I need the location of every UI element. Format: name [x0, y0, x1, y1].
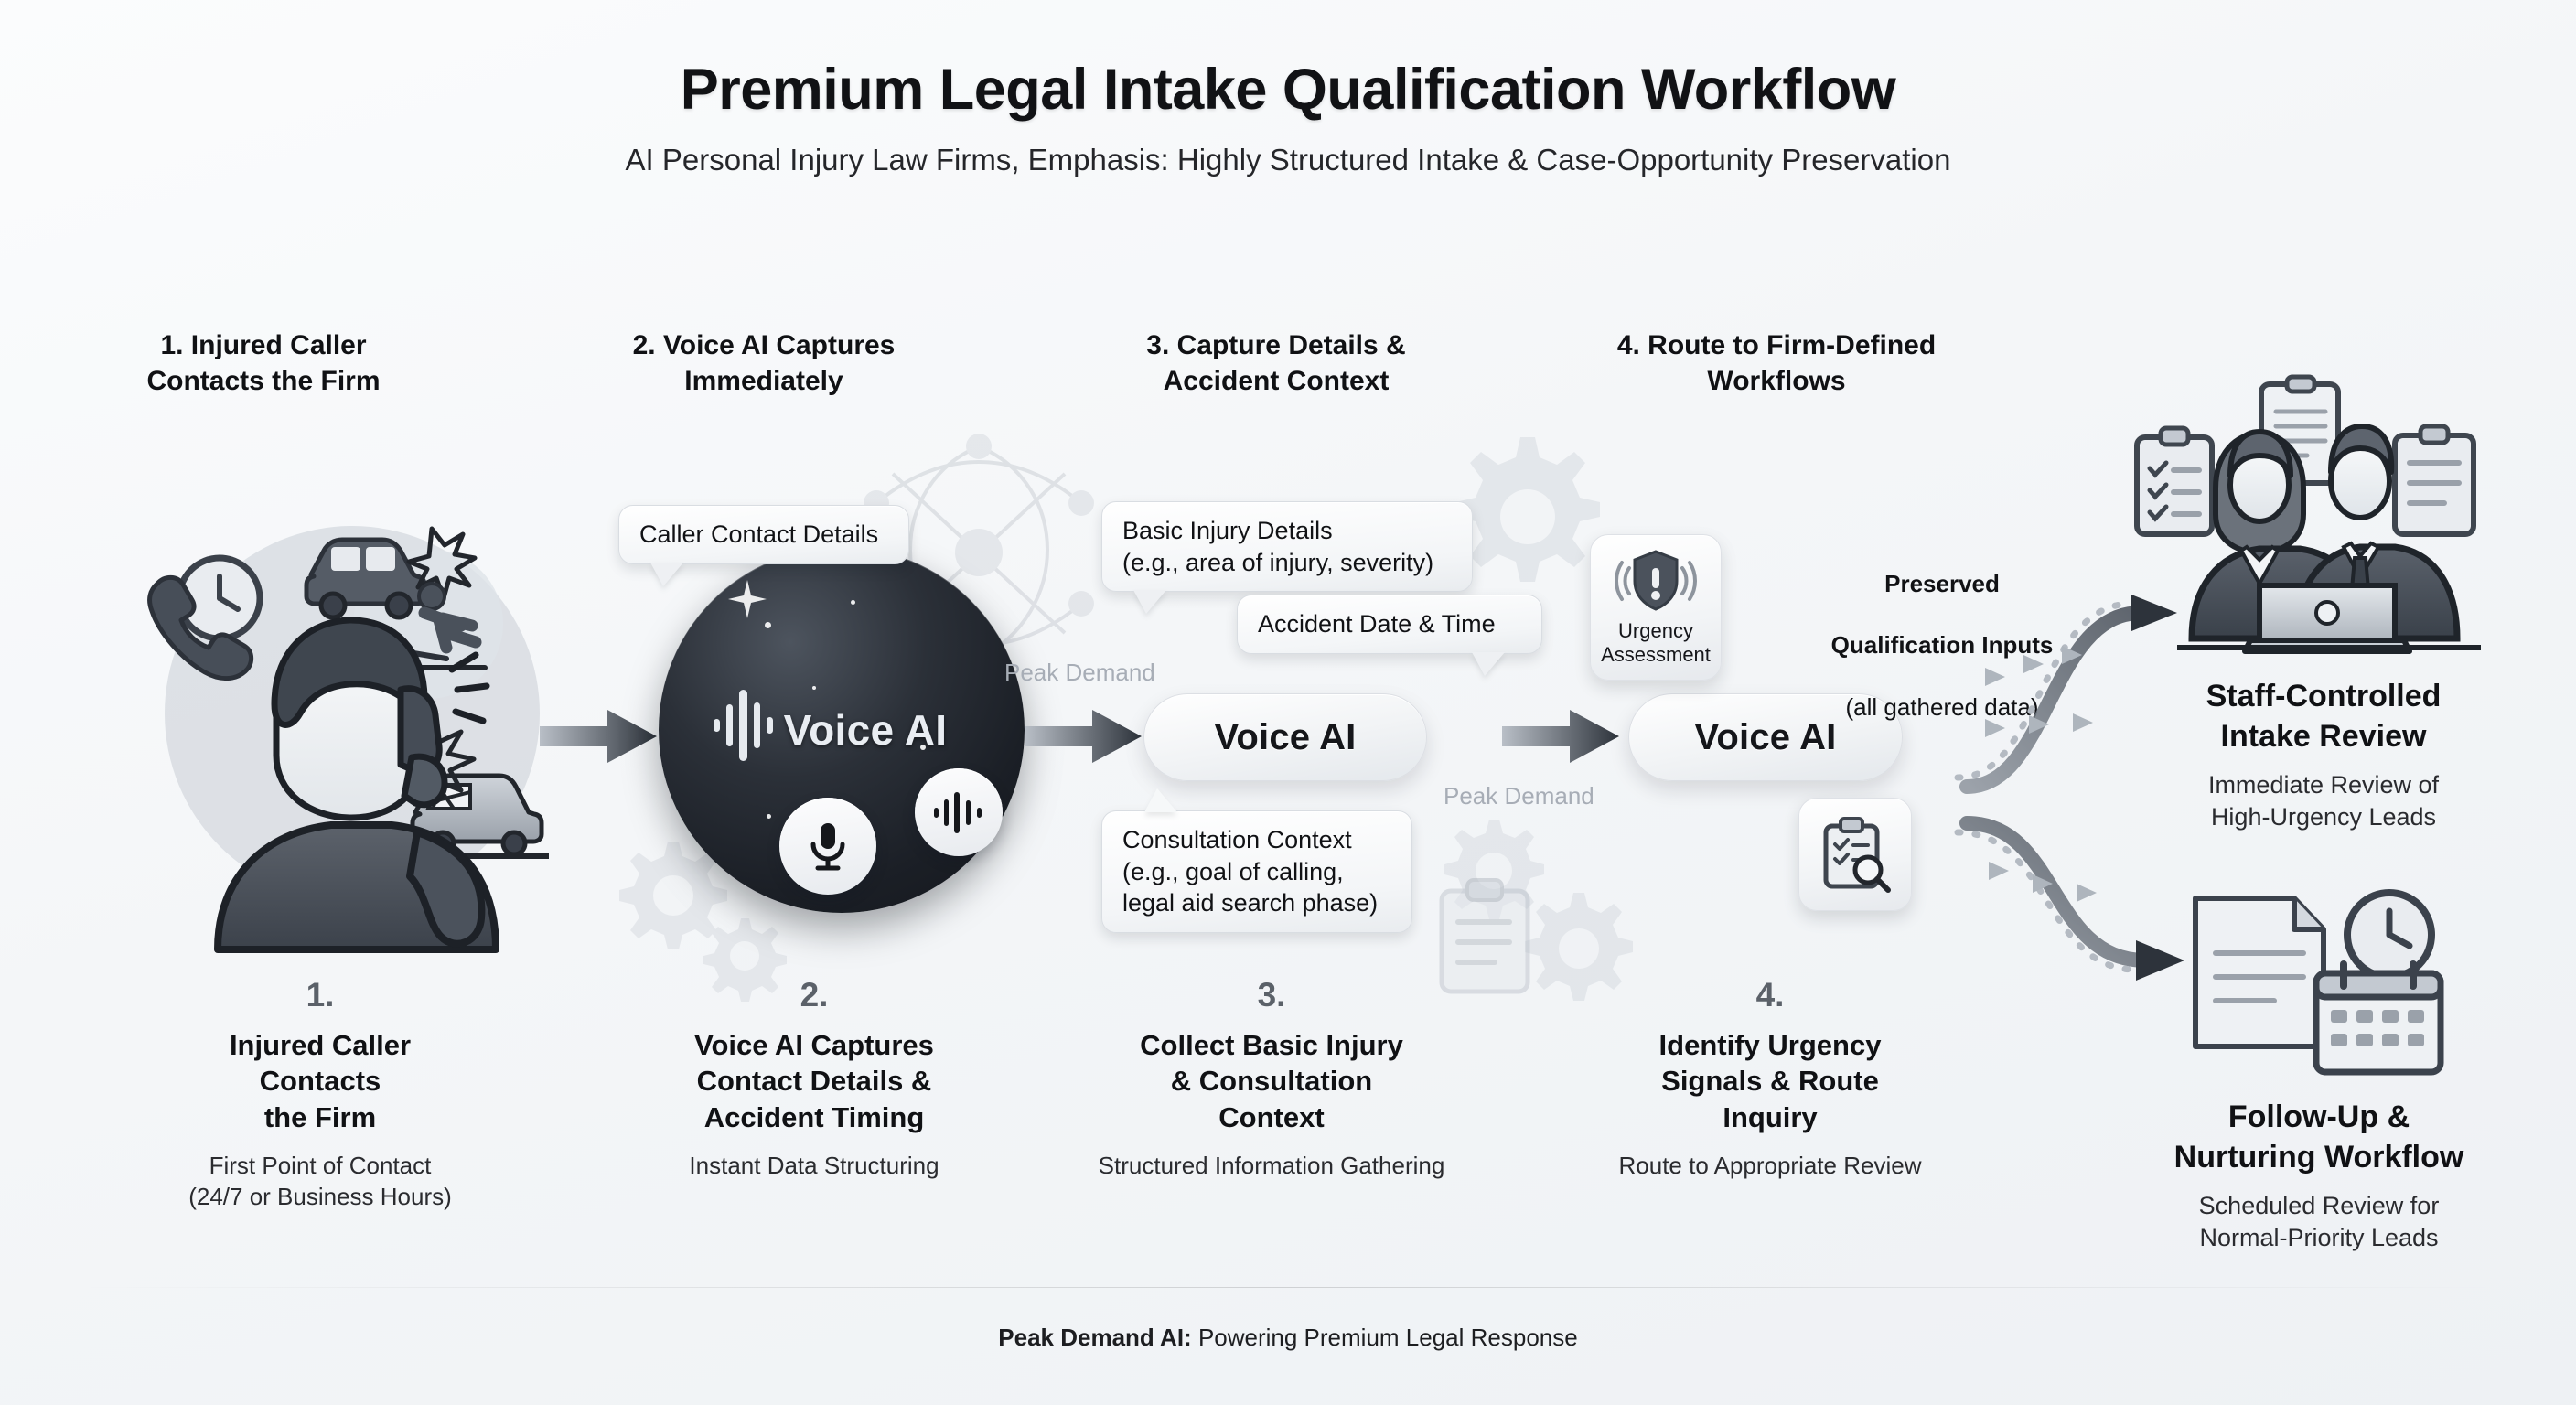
damaged-car-icon [382, 717, 549, 856]
preserved-line-3: (all gathered data) [1845, 693, 2038, 721]
urgency-assessment-label: Urgency Assessment [1601, 619, 1711, 668]
caption-3-sub: Structured Information Gathering [1043, 1151, 1500, 1182]
caption-1-lead: Injured Caller Contacts the Firm [91, 1027, 549, 1136]
footer-divider [73, 1287, 2503, 1288]
sparkle-icon [726, 578, 768, 620]
footer-tagline: Powering Premium Legal Response [1192, 1324, 1578, 1351]
caption-step-3: 3. Collect Basic Injury & Consultation C… [1043, 977, 1500, 1182]
step-title-3: 3. Capture Details & Accident Context [1098, 327, 1454, 399]
waveform-chip [915, 768, 1003, 856]
preserved-line-2: Qualification Inputs [1831, 631, 2054, 659]
followup-illustration [2186, 885, 2479, 1087]
page-title: Premium Legal Intake Qualification Workf… [0, 57, 2576, 123]
bubble-consultation-context: Consultation Context (e.g., goal of call… [1101, 810, 1412, 933]
caption-4-lead: Identify Urgency Signals & Route Inquiry [1546, 1027, 1994, 1136]
staff-person-woman [2192, 432, 2366, 638]
review-clipboard-tile [1798, 798, 1912, 911]
clipboard-document-right [2395, 426, 2474, 534]
caption-2-sub: Instant Data Structuring [604, 1151, 1025, 1182]
caption-2-number: 2. [604, 977, 1025, 1014]
outcome-2-title: Follow-Up & Nurturing Workflow [2104, 1098, 2534, 1177]
step-title-4: 4. Route to Firm-Defined Workflows [1566, 327, 1987, 399]
urgency-shield-icon [1616, 548, 1695, 614]
step-title-2: 2. Voice AI Captures Immediately [585, 327, 942, 399]
preserved-line-1: Preserved [1884, 570, 2000, 597]
staff-team-illustration [2120, 377, 2514, 660]
watermark-peak-demand-1: Peak Demand [1004, 659, 1155, 687]
step-title-1: 1. Injured Caller Contacts the Firm [99, 327, 428, 399]
waveform-icon-sphere [712, 684, 785, 767]
caption-3-number: 3. [1043, 977, 1500, 1014]
clipboard-checklist-left [2137, 428, 2212, 534]
microphone-chip [779, 798, 876, 895]
footer-brand: Peak Demand AI: [998, 1324, 1191, 1351]
watermark-peak-demand-2: Peak Demand [1444, 782, 1594, 810]
clock-icon-followup [2347, 893, 2431, 977]
caption-3-lead: Collect Basic Injury & Consultation Cont… [1043, 1027, 1500, 1136]
page-subtitle: AI Personal Injury Law Firms, Emphasis: … [0, 143, 2576, 177]
caller-illustration [137, 485, 567, 915]
bubble-basic-injury: Basic Injury Details (e.g., area of inju… [1101, 501, 1473, 592]
microphone-icon [806, 820, 850, 872]
caption-step-2: 2. Voice AI Captures Contact Details & A… [604, 977, 1025, 1182]
outcome-1-subtitle: Immediate Review of High-Urgency Leads [2122, 769, 2525, 833]
outcome-2-subtitle: Scheduled Review for Normal-Priority Lea… [2104, 1190, 2534, 1254]
caption-4-sub: Route to Appropriate Review [1546, 1151, 1994, 1182]
staff-person-man [2296, 426, 2457, 638]
caption-step-4: 4. Identify Urgency Signals & Route Inqu… [1546, 977, 1994, 1182]
gears-decoration-step3-bottom [1427, 805, 1647, 1006]
outcome-1-title: Staff-Controlled Intake Review [2122, 677, 2525, 756]
header: Premium Legal Intake Qualification Workf… [0, 57, 2576, 177]
caption-1-sub: First Point of Contact (24/7 or Business… [91, 1151, 549, 1213]
footer: Peak Demand AI: Powering Premium Legal R… [0, 1324, 2576, 1352]
clipboard-search-icon [1820, 817, 1890, 892]
clock-icon [179, 558, 260, 638]
preserved-qualification-inputs: Preserved Qualification Inputs (all gath… [1773, 538, 2111, 724]
bubble-accident-date: Accident Date & Time [1237, 595, 1542, 654]
caption-step-1: 1. Injured Caller Contacts the Firm Firs… [91, 977, 549, 1212]
caption-1-number: 1. [91, 977, 549, 1014]
phone-icon [150, 577, 252, 678]
outcome-followup: Follow-Up & Nurturing Workflow Scheduled… [2104, 1098, 2534, 1254]
flow-arrow-1 [540, 704, 659, 768]
laptop-icon [2245, 585, 2410, 651]
flow-arrow-2 [1025, 704, 1143, 768]
waveform-icon-chip [932, 789, 985, 835]
urgency-assessment-tile: Urgency Assessment [1590, 534, 1722, 681]
car-crash-icon [306, 529, 475, 617]
infographic-canvas: Premium Legal Intake Qualification Workf… [0, 0, 2576, 1405]
bubble-caller-contact: Caller Contact Details [618, 505, 909, 564]
caption-4-number: 4. [1546, 977, 1994, 1014]
clipboard-document-center [2261, 377, 2338, 483]
slip-fall-icon [406, 584, 485, 668]
voice-ai-pill-step3: Voice AI [1143, 693, 1427, 781]
outcome-staff-review: Staff-Controlled Intake Review Immediate… [2122, 677, 2525, 833]
document-icon [2195, 898, 2324, 1046]
caller-person [218, 620, 496, 949]
flow-arrow-3 [1502, 704, 1621, 768]
calendar-icon [2316, 964, 2441, 1072]
caption-2-lead: Voice AI Captures Contact Details & Acci… [604, 1027, 1025, 1136]
